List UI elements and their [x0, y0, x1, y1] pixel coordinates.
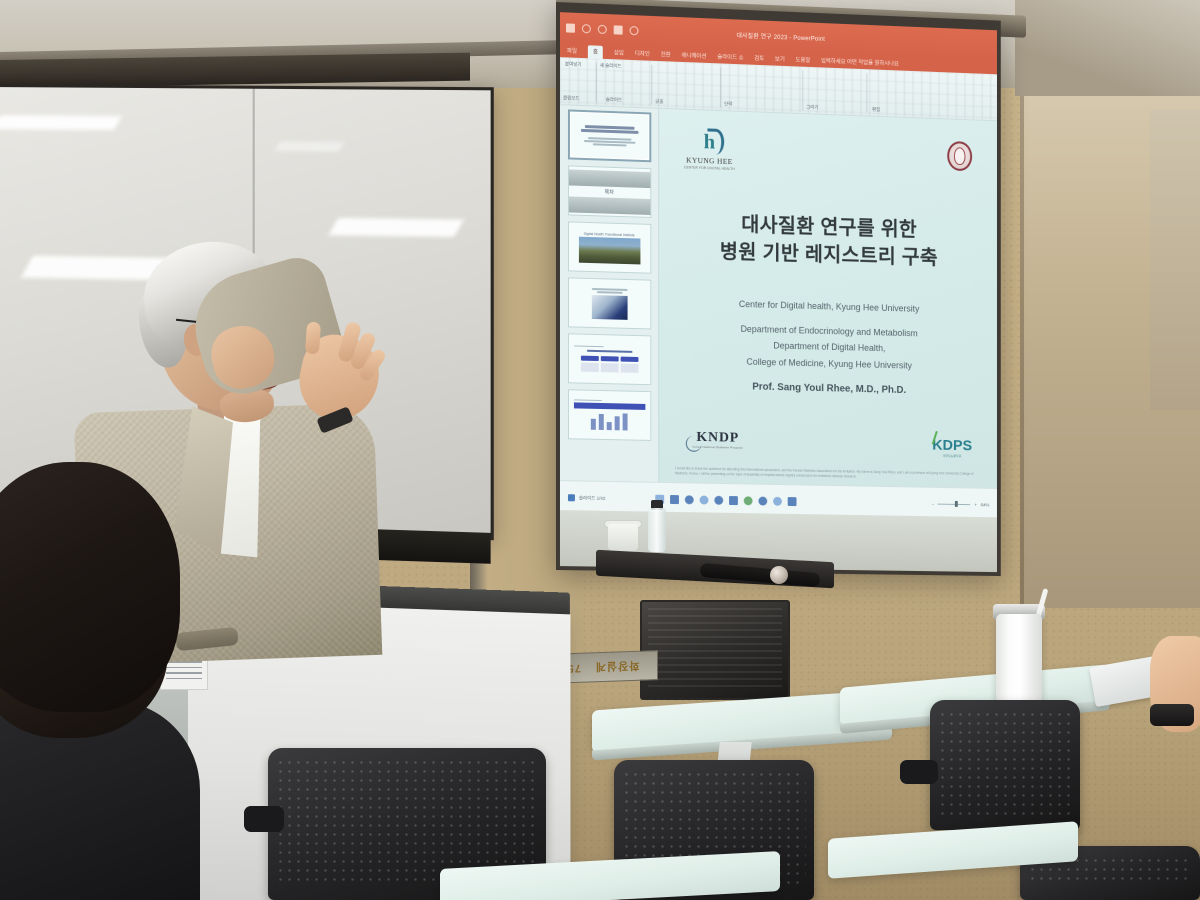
- tumbler: [996, 614, 1042, 704]
- redo-icon[interactable]: [598, 24, 607, 33]
- chair: [930, 700, 1080, 830]
- ribbon-group-paragraph: 단락: [724, 101, 732, 107]
- thumbnail-slide-1[interactable]: 1: [567, 109, 650, 162]
- kdps-name: KDPS: [932, 438, 972, 454]
- ribbon-separator: [720, 67, 721, 107]
- presenter-view-icon[interactable]: [743, 496, 752, 505]
- finger: [305, 322, 321, 355]
- kdps-subtitle: 대한당뇨병학회: [932, 453, 972, 458]
- light-reflection: [0, 115, 122, 130]
- start-slideshow-icon[interactable]: [614, 25, 623, 34]
- university-seal-icon: [947, 141, 972, 171]
- accessibility-icon[interactable]: [773, 497, 782, 506]
- zoom-slider[interactable]: [938, 503, 971, 505]
- ribbon-group-new-slide[interactable]: 새 슬라이드: [600, 63, 622, 70]
- projection-surface: 대사질환 연구 2023 - PowerPoint 파일 홈 삽입 디자인 전환…: [560, 12, 997, 521]
- zoom-control[interactable]: − + 64%: [932, 502, 990, 508]
- tab-design[interactable]: 디자인: [635, 49, 650, 58]
- thumbnail-image: [578, 236, 640, 264]
- save-icon[interactable]: [566, 23, 575, 32]
- thumbnail-slide-3[interactable]: 3 Digital Health Transitional Institute: [567, 221, 650, 273]
- notes-view-icon[interactable]: [699, 496, 708, 505]
- display-settings-icon[interactable]: [787, 497, 796, 506]
- wall-panel-far-right: [1150, 110, 1200, 410]
- ribbon-separator: [596, 63, 597, 103]
- tab-home[interactable]: 홈: [588, 45, 603, 59]
- kdps-logo: KDPS 대한당뇨병학회: [932, 438, 972, 458]
- comments-icon[interactable]: [729, 496, 738, 505]
- tab-view[interactable]: 보기: [775, 54, 785, 62]
- powerpoint-window[interactable]: 대사질환 연구 2023 - PowerPoint 파일 홈 삽입 디자인 전환…: [560, 12, 997, 521]
- ribbon-group-drawing: 그리기: [806, 104, 818, 110]
- zoom-in-icon[interactable]: +: [974, 502, 977, 507]
- current-slide[interactable]: h KYUNG HEE CENTER FOR DIGITAL HEALTH 대사…: [659, 109, 997, 488]
- ribbon-separator: [866, 73, 867, 112]
- tab-transitions[interactable]: 전환: [661, 50, 671, 58]
- seal-inner-emblem: [954, 147, 965, 165]
- tab-slideshow[interactable]: 슬라이드 쇼: [717, 52, 743, 61]
- chair-armrest: [900, 760, 938, 784]
- av-cart-knob[interactable]: [770, 566, 788, 584]
- ribbon-group-paste[interactable]: 붙여넣기: [565, 61, 581, 68]
- ribbon-group-font: 글꼴: [655, 99, 663, 105]
- projection-screen: 대사질환 연구 2023 - PowerPoint 파일 홈 삽입 디자인 전환…: [556, 2, 1001, 576]
- tab-animations[interactable]: 애니메이션: [682, 51, 707, 60]
- document-title: 대사질환 연구 2023 - PowerPoint: [736, 30, 825, 43]
- fit-slide-icon[interactable]: [758, 497, 767, 506]
- audience-member-head: [0, 462, 180, 712]
- ribbon-group-editing: 편집: [872, 107, 880, 113]
- water-bottle: [648, 508, 666, 552]
- zoom-out-icon[interactable]: −: [932, 502, 935, 507]
- ribbon-separator: [651, 65, 652, 105]
- ribbon-separator: [802, 71, 803, 111]
- room-sign-left-text: 화장실계: [595, 658, 639, 676]
- thumbnail-slide-2[interactable]: 2 목차: [567, 165, 650, 218]
- lecture-hall-scene: 대사질환 연구 2023 - PowerPoint 파일 홈 삽입 디자인 전환…: [0, 0, 1200, 900]
- slide-editing-area[interactable]: h KYUNG HEE CENTER FOR DIGITAL HEALTH 대사…: [659, 109, 997, 488]
- kyung-hee-name: KYUNG HEE: [681, 156, 738, 165]
- tab-review[interactable]: 검토: [754, 53, 764, 61]
- customize-icon[interactable]: [630, 26, 639, 35]
- slide-indicator-text: 슬라이드 1/42: [579, 495, 605, 501]
- tab-insert[interactable]: 삽입: [614, 48, 624, 56]
- tab-help[interactable]: 도움말: [796, 55, 811, 63]
- ribbon-group-slides: 슬라이드: [606, 97, 622, 104]
- kndp-logo: KNDP Korea National Diabetes Program: [693, 431, 743, 450]
- tab-file[interactable]: 파일: [567, 46, 577, 54]
- zoom-level-text: 64%: [981, 502, 990, 507]
- thumbnail-slide-5[interactable]: 5: [567, 333, 650, 385]
- slide-thumbnail-panel[interactable]: 1 2 목차: [560, 105, 659, 482]
- kyung-hee-mark-icon: h: [693, 126, 726, 157]
- audience-wristwatch: [1150, 704, 1194, 726]
- thumbnail-image: [591, 295, 627, 320]
- status-slide-indicator: 슬라이드 1/42: [568, 494, 605, 502]
- view-buttons[interactable]: [655, 495, 796, 506]
- kyung-hee-swoosh-icon: [707, 128, 724, 154]
- slide-sorter-icon[interactable]: [670, 495, 679, 504]
- ribbon-group-clipboard: 클립보드: [563, 95, 579, 102]
- thumbnail-slide-4[interactable]: 4: [567, 277, 650, 329]
- ceiling-corner: [1015, 0, 1200, 96]
- av-cart: [640, 600, 790, 700]
- chair-armrest: [244, 806, 284, 832]
- slide-affiliations: Center for Digital health, Kyung Hee Uni…: [659, 294, 997, 376]
- slideshow-icon[interactable]: [714, 496, 723, 505]
- kyung-hee-logo: h KYUNG HEE CENTER FOR DIGITAL HEALTH: [681, 126, 738, 171]
- reading-view-icon[interactable]: [684, 495, 693, 504]
- slide-author: Prof. Sang Youl Rhee, M.D., Ph.D.: [659, 379, 997, 398]
- paper-cup: [608, 524, 638, 552]
- light-reflection: [275, 142, 344, 152]
- thumbnail-slide-6[interactable]: 6: [567, 389, 650, 441]
- tell-me-search[interactable]: 입력하세요 어떤 작업을 원하시나요: [821, 56, 899, 67]
- slide-title: 대사질환 연구를 위한 병원 기반 레지스트리 구축: [659, 208, 997, 274]
- undo-icon[interactable]: [582, 24, 591, 33]
- slide-count-icon: [568, 494, 575, 501]
- kndp-arc-icon: [686, 436, 702, 452]
- zoom-slider-handle[interactable]: [955, 501, 958, 507]
- slide-speaker-notes: I would like to thank the audience for a…: [675, 467, 982, 482]
